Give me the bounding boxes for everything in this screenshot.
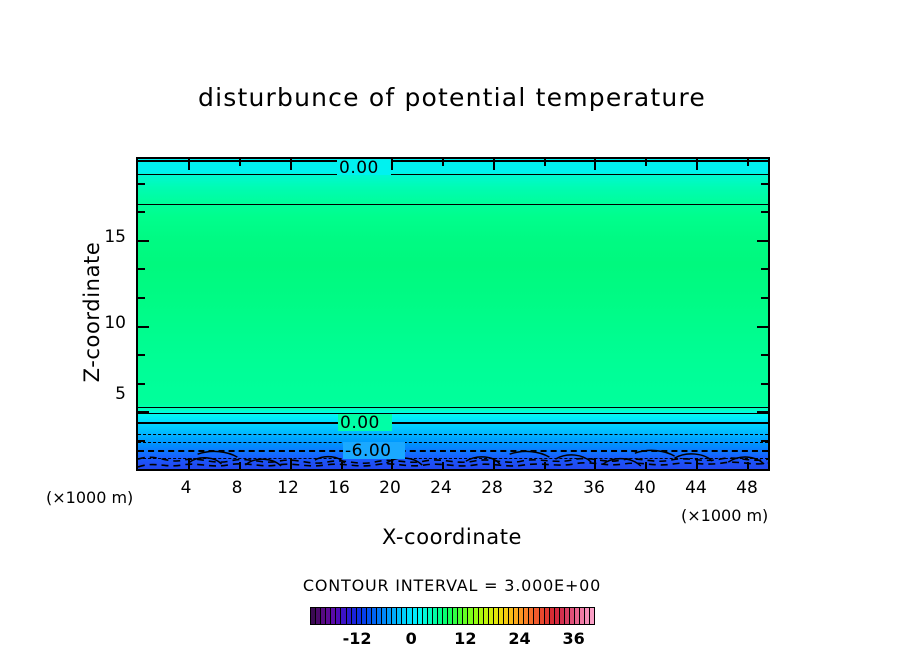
contour-line-dashed bbox=[138, 434, 768, 435]
contour-plot-area: 0.00 0.00 -6.00 bbox=[136, 157, 770, 471]
axis-tick-left bbox=[138, 440, 145, 442]
axis-tick-top bbox=[239, 159, 241, 166]
axis-tick-top bbox=[442, 159, 444, 166]
x-axis-title: X-coordinate bbox=[0, 525, 904, 549]
contour-line bbox=[138, 204, 768, 205]
axis-tick-right bbox=[761, 183, 768, 185]
axis-tick-top bbox=[594, 159, 596, 170]
axis-tick-right bbox=[757, 240, 768, 242]
axis-tick-bottom bbox=[544, 462, 546, 469]
contour-line bbox=[138, 174, 768, 175]
axis-tick-top bbox=[645, 159, 647, 166]
contour-interval-caption: CONTOUR INTERVAL = 3.000E+00 bbox=[0, 576, 904, 595]
axis-tick-bottom bbox=[696, 458, 698, 469]
colorbar-ticklabel-minus12: -12 bbox=[343, 629, 372, 648]
x-ticklabel-32: 32 bbox=[523, 478, 563, 498]
axis-tick-bottom bbox=[341, 462, 343, 469]
x-ticklabel-16: 16 bbox=[319, 478, 359, 498]
colorbar-swatch-55 bbox=[590, 608, 594, 624]
axis-tick-top bbox=[290, 159, 292, 170]
contour-label-minus-six: -6.00 bbox=[345, 441, 392, 461]
axis-tick-left bbox=[138, 383, 145, 385]
x-ticklabel-40: 40 bbox=[625, 478, 665, 498]
axis-tick-right bbox=[761, 383, 768, 385]
axis-tick-bottom bbox=[747, 462, 749, 469]
colorbar-ticklabel-24: 24 bbox=[508, 629, 530, 648]
contour-line bbox=[138, 413, 768, 414]
contour-line-lower-zero bbox=[138, 422, 768, 424]
x-ticklabel-24: 24 bbox=[421, 478, 461, 498]
axis-tick-top bbox=[391, 159, 393, 170]
axis-tick-right bbox=[761, 211, 768, 213]
colorbar-ticklabel-0: 0 bbox=[406, 629, 417, 648]
contour-line-dashed bbox=[138, 458, 768, 459]
axis-tick-bottom bbox=[493, 458, 495, 469]
axis-tick-bottom bbox=[290, 458, 292, 469]
x-ticklabel-48: 48 bbox=[727, 478, 767, 498]
axis-tick-right bbox=[757, 326, 768, 328]
axis-tick-left bbox=[138, 297, 145, 299]
axis-tick-top bbox=[696, 159, 698, 170]
x-ticklabel-36: 36 bbox=[574, 478, 614, 498]
page-title: disturbunce of potential temperature bbox=[0, 83, 904, 112]
contour-line-dashed-minus-six bbox=[138, 450, 768, 452]
contour-line-dashed bbox=[138, 442, 768, 443]
x-ticklabel-20: 20 bbox=[370, 478, 410, 498]
x-ticklabel-8: 8 bbox=[217, 478, 257, 498]
contour-label-top-zero: 0.00 bbox=[339, 158, 379, 178]
axis-tick-bottom bbox=[442, 462, 444, 469]
contour-line bbox=[138, 407, 768, 408]
axis-tick-top bbox=[747, 159, 749, 166]
contour-label-lower-zero: 0.00 bbox=[340, 413, 380, 433]
x-ticklabel-12: 12 bbox=[268, 478, 308, 498]
x-axis-units: (×1000 m) bbox=[681, 506, 768, 525]
x-ticklabel-28: 28 bbox=[472, 478, 512, 498]
axis-tick-right bbox=[761, 297, 768, 299]
axis-tick-bottom bbox=[188, 458, 190, 469]
axis-tick-left bbox=[138, 211, 145, 213]
contour-line-top-zero bbox=[138, 160, 768, 162]
axis-tick-left bbox=[138, 411, 149, 413]
axis-tick-top bbox=[493, 159, 495, 170]
axis-tick-bottom bbox=[594, 458, 596, 469]
axis-tick-top bbox=[188, 159, 190, 170]
axis-tick-bottom bbox=[239, 462, 241, 469]
colorbar-ticklabel-12: 12 bbox=[454, 629, 476, 648]
axis-tick-bottom bbox=[645, 462, 647, 469]
colorbar-ticklabels: -12 0 12 24 36 bbox=[310, 629, 595, 651]
axis-tick-left bbox=[138, 326, 149, 328]
x-ticklabel-44: 44 bbox=[676, 478, 716, 498]
colorbar bbox=[310, 607, 595, 625]
axis-tick-top bbox=[544, 159, 546, 166]
axis-tick-left bbox=[138, 183, 145, 185]
axis-tick-right bbox=[761, 440, 768, 442]
axis-tick-right bbox=[757, 411, 768, 413]
axis-tick-left bbox=[138, 240, 149, 242]
axis-tick-left bbox=[138, 354, 145, 356]
axis-tick-right bbox=[761, 268, 768, 270]
axis-tick-right bbox=[761, 354, 768, 356]
y-axis-title: Z-coordinate bbox=[80, 202, 104, 422]
axis-tick-left bbox=[138, 268, 145, 270]
y-axis-units: (×1000 m) bbox=[46, 488, 133, 507]
colorbar-ticklabel-36: 36 bbox=[562, 629, 584, 648]
x-ticklabel-4: 4 bbox=[166, 478, 206, 498]
